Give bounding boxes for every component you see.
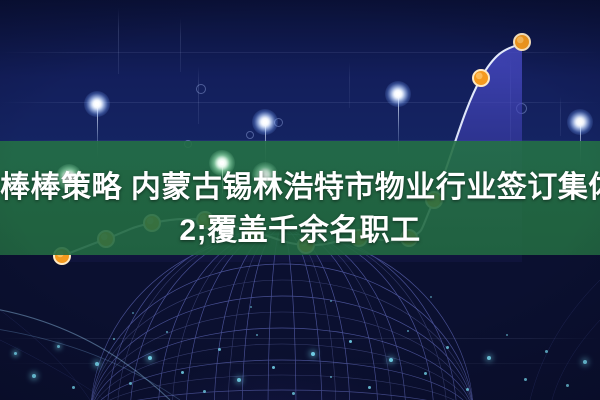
vignette-overlay [0,0,600,400]
banner-image: 棒棒策略 内蒙古锡林浩特市物业行业签订集体合同&# 2;覆盖千余名职工 [0,0,600,400]
